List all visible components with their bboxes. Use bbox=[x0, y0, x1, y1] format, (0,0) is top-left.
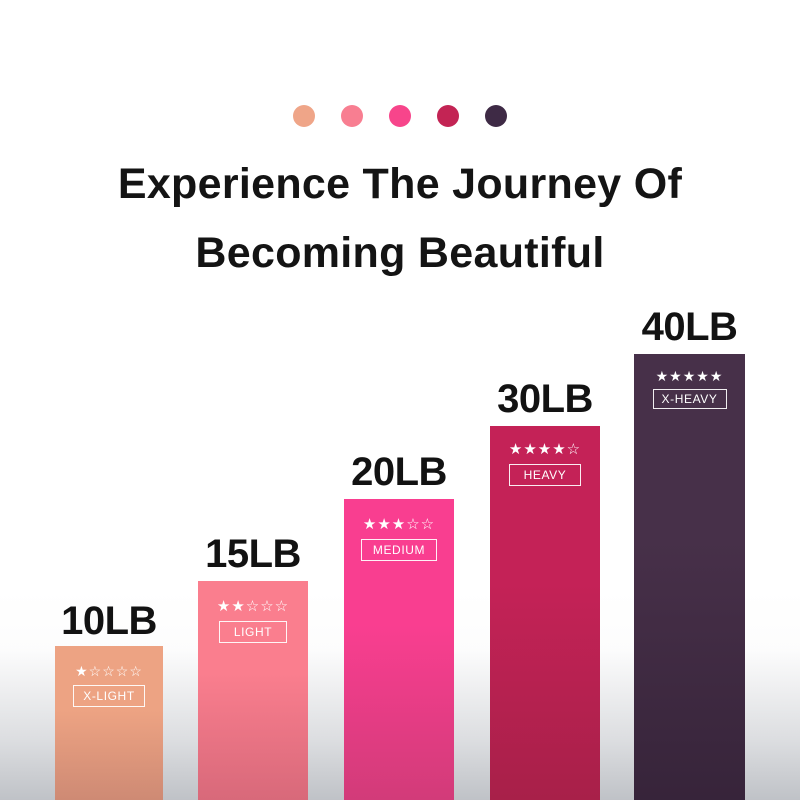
bar-group-x-light[interactable]: 10LB★☆☆☆☆X-LIGHT bbox=[55, 646, 163, 800]
bar-content: ★☆☆☆☆X-LIGHT bbox=[55, 664, 163, 707]
bar-x-heavy[interactable]: ★★★★★X-HEAVY bbox=[634, 354, 745, 800]
star-rating-icon: ★☆☆☆☆ bbox=[75, 664, 143, 678]
bar-medium[interactable]: ★★★☆☆MEDIUM bbox=[344, 499, 454, 800]
bar-group-heavy[interactable]: 30LB★★★★☆HEAVY bbox=[490, 426, 600, 800]
bar-content: ★★☆☆☆LIGHT bbox=[198, 599, 308, 643]
star-rating-icon: ★★★★☆ bbox=[509, 442, 581, 457]
bar-group-light[interactable]: 15LB★★☆☆☆LIGHT bbox=[198, 581, 308, 800]
bar-content: ★★★★☆HEAVY bbox=[490, 442, 600, 486]
bar-content: ★★★☆☆MEDIUM bbox=[344, 517, 454, 561]
bar-group-medium[interactable]: 20LB★★★☆☆MEDIUM bbox=[344, 499, 454, 800]
star-rating-icon: ★★★☆☆ bbox=[363, 517, 435, 532]
bar-fill bbox=[634, 354, 745, 800]
bar-weight-label: 40LB bbox=[592, 307, 787, 347]
bar-weight-label: 10LB bbox=[13, 601, 205, 641]
bar-light[interactable]: ★★☆☆☆LIGHT bbox=[198, 581, 308, 800]
bar-weight-label: 15LB bbox=[156, 534, 350, 574]
resistance-level-bar-chart: 10LB★☆☆☆☆X-LIGHT15LB★★☆☆☆LIGHT20LB★★★☆☆M… bbox=[0, 0, 800, 800]
bar-heavy[interactable]: ★★★★☆HEAVY bbox=[490, 426, 600, 800]
star-rating-icon: ★★☆☆☆ bbox=[217, 599, 289, 614]
bar-x-light[interactable]: ★☆☆☆☆X-LIGHT bbox=[55, 646, 163, 800]
bar-content: ★★★★★X-HEAVY bbox=[634, 369, 745, 409]
resistance-level-badge: X-HEAVY bbox=[653, 389, 727, 409]
bar-weight-label: 20LB bbox=[302, 452, 496, 492]
resistance-level-badge: X-LIGHT bbox=[73, 685, 145, 707]
star-rating-icon: ★★★★★ bbox=[656, 369, 724, 383]
resistance-level-badge: LIGHT bbox=[219, 621, 287, 643]
bar-group-x-heavy[interactable]: 40LB★★★★★X-HEAVY bbox=[634, 354, 745, 800]
resistance-level-badge: MEDIUM bbox=[361, 539, 437, 561]
resistance-level-badge: HEAVY bbox=[509, 464, 582, 486]
bar-weight-label: 30LB bbox=[448, 379, 642, 419]
resistance-band-infographic: Experience The Journey Of Becoming Beaut… bbox=[0, 0, 800, 800]
